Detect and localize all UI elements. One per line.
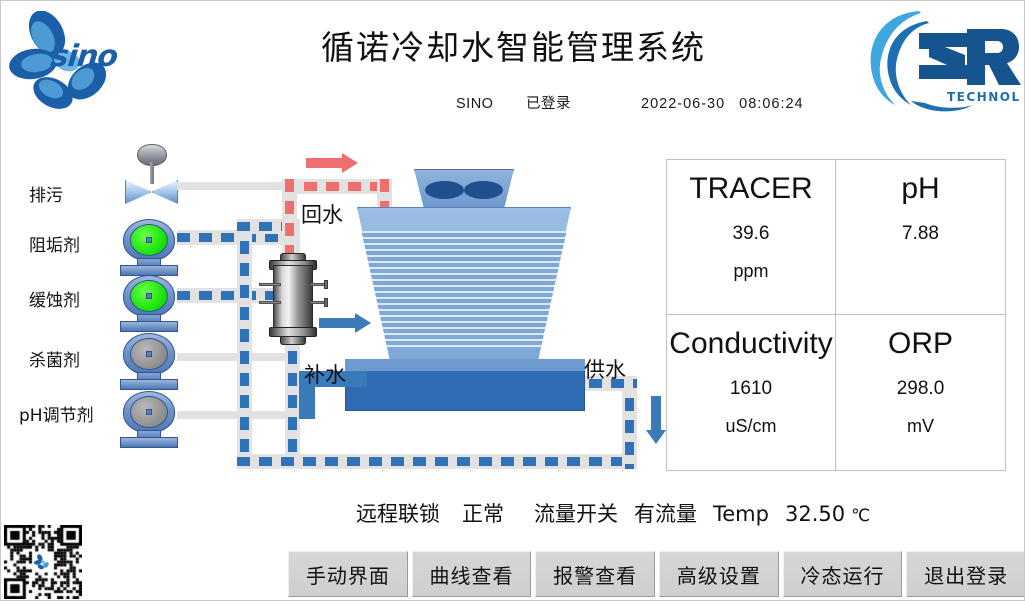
button-alarm-view[interactable]: 报警查看 <box>535 551 655 597</box>
valve-body-right <box>152 180 178 204</box>
header-date: 2022-06-30 <box>641 96 725 112</box>
equipment-label-biocide: 杀菌剂 <box>29 346 80 371</box>
temp-unit: ℃ <box>851 506 870 526</box>
3r-technology-logo: TECHNOLOGY <box>861 5 1021 117</box>
label-makeup-water: 补水 <box>304 359 346 389</box>
temp-label: Temp <box>713 502 769 526</box>
qr-code[interactable] <box>4 525 82 599</box>
loop-dash-bottom <box>237 457 637 466</box>
flow-switch-value: 有流量 <box>634 498 697 528</box>
return-dash-left-vertical <box>285 179 294 261</box>
pump-base <box>120 321 178 332</box>
measurement-cell-orp[interactable]: ORP 298.0 mV <box>836 315 1005 470</box>
equipment-label-ph-adjuster: pH调节剂 <box>19 401 94 426</box>
measurement-name: Conductivity <box>669 327 832 362</box>
cooling-tower <box>341 169 591 419</box>
pipe-blowdown-run <box>177 182 285 190</box>
blowdown-valve[interactable] <box>119 144 183 206</box>
header-status-line: SINO已登录2022-06-3008:06:24 <box>456 92 804 113</box>
loop-dash-left-vertical <box>240 219 249 469</box>
button-manual-interface[interactable]: 手动界面 <box>288 551 408 597</box>
measurement-panel: TRACER 39.6 ppm pH 7.88 Conductivity 161… <box>666 159 1006 471</box>
qr-center-sino-icon <box>34 553 52 571</box>
label-return-water: 回水 <box>301 199 343 229</box>
hmi-screen: sino 循诺冷却水智能管理系统 SINO已登录2022-06-3008:06:… <box>0 0 1025 601</box>
measurement-cell-ph[interactable]: pH 7.88 <box>836 160 1005 315</box>
tower-fill-fins <box>357 231 571 347</box>
hx-bottom-dome <box>280 336 306 345</box>
pump-base <box>120 437 178 448</box>
tower-water-surface <box>345 359 585 371</box>
measurement-value: 1610 <box>730 378 772 400</box>
heat-exchanger-analyzer[interactable] <box>266 253 320 345</box>
hx-probe-upper-left <box>259 283 281 286</box>
system-status-bar: 远程联锁正常流量开关有流量Temp32.50℃ <box>356 498 870 528</box>
pump-shaft-dot <box>146 237 152 243</box>
pipe-dash-scale-inhibitor <box>177 233 285 242</box>
button-logout[interactable]: 退出登录 <box>906 551 1025 597</box>
measurement-name: TRACER <box>689 172 812 207</box>
measurement-cell-tracer[interactable]: TRACER 39.6 ppm <box>667 160 836 315</box>
hx-shell <box>273 265 313 333</box>
tower-fan-icon <box>425 181 503 199</box>
pump-shaft-dot <box>146 409 152 415</box>
flow-switch-label: 流量开关 <box>534 498 618 528</box>
pipe-biocide-run <box>177 353 285 361</box>
measurement-cell-conductivity[interactable]: Conductivity 1610 uS/cm <box>667 315 836 470</box>
dosing-pump-biocide[interactable] <box>119 333 179 391</box>
button-advanced-settings[interactable]: 高级设置 <box>659 551 779 597</box>
measurement-value: 39.6 <box>733 223 770 245</box>
pump-base <box>120 379 178 390</box>
header-time: 08:06:24 <box>739 96 803 112</box>
hx-probe-lower-left <box>259 301 281 304</box>
hx-nub-upper-right <box>324 280 328 289</box>
measurement-name: pH <box>901 172 939 207</box>
dosing-pump-corrosion-inhibitor[interactable] <box>119 275 179 333</box>
remote-interlock-label: 远程联锁 <box>356 498 440 528</box>
button-cold-standby-run[interactable]: 冷态运行 <box>783 551 903 597</box>
measurement-value: 7.88 <box>902 223 939 245</box>
valve-stem <box>150 162 154 184</box>
equipment-label-blowdown: 排污 <box>29 181 63 206</box>
svg-text:TECHNOLOGY: TECHNOLOGY <box>947 90 1021 104</box>
bottom-button-bar: 手动界面 曲线查看 报警查看 高级设置 冷态运行 退出登录 <box>288 551 1025 597</box>
measurement-name: ORP <box>888 327 953 362</box>
pipe-ph-run <box>177 411 285 419</box>
measurement-value: 298.0 <box>897 378 945 400</box>
header-user: SINO <box>456 96 526 112</box>
equipment-label-corrosion-inhibitor: 缓蚀剂 <box>29 286 80 311</box>
measurement-unit: ppm <box>733 261 768 282</box>
remote-interlock-value: 正常 <box>462 498 504 528</box>
pump-shaft-dot <box>146 293 152 299</box>
dosing-pump-ph-adjuster[interactable] <box>119 391 179 449</box>
label-supply-water: 供水 <box>584 354 626 384</box>
hx-nub-lower-right <box>324 298 328 307</box>
pump-shaft-dot <box>146 351 152 357</box>
equipment-label-scale-inhibitor: 阻垢剂 <box>29 231 80 256</box>
measurement-unit: mV <box>907 416 934 437</box>
measurement-unit: uS/cm <box>725 416 776 437</box>
valve-body-left <box>125 180 151 204</box>
arrow-supply-flow <box>646 396 666 444</box>
temp-value: 32.50 <box>785 502 845 526</box>
dosing-pump-scale-inhibitor[interactable] <box>119 219 179 277</box>
header-login-status: 已登录 <box>526 92 641 113</box>
button-trend-view[interactable]: 曲线查看 <box>412 551 532 597</box>
